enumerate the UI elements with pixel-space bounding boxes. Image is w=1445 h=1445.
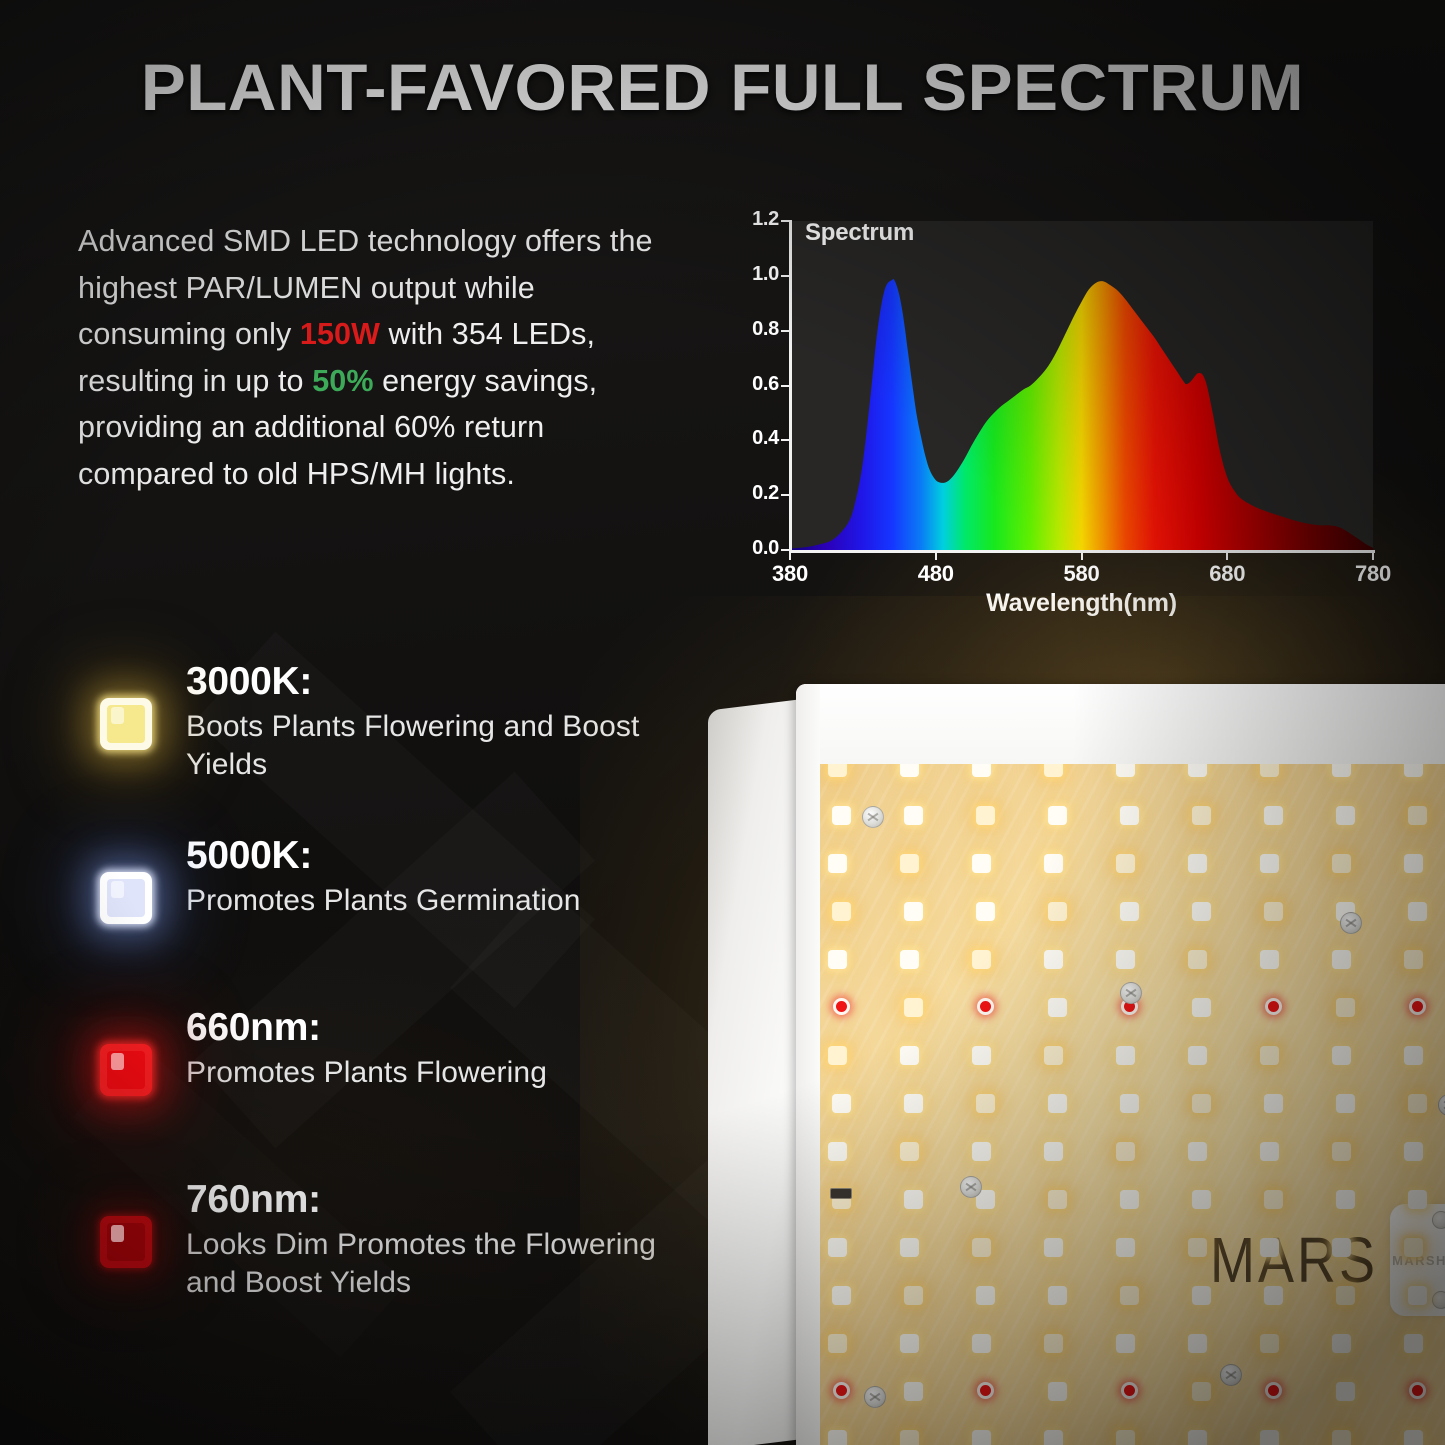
chart-y-tick: [781, 494, 790, 496]
white-led-diode: [972, 950, 991, 969]
white-led-diode: [1188, 764, 1207, 777]
board-screw-icon: [1438, 1094, 1445, 1116]
white-led-diode: [1048, 1094, 1067, 1113]
led-chip-5000k-icon: [78, 850, 174, 946]
white-led-diode: [976, 806, 995, 825]
chart-y-tick: [781, 439, 790, 441]
white-led-diode: [976, 1286, 995, 1305]
red-led-diode: [1265, 998, 1282, 1015]
white-led-diode: [972, 1142, 991, 1161]
chart-x-tick-label: 680: [1192, 561, 1262, 587]
white-led-diode: [828, 1046, 847, 1065]
white-led-diode: [900, 1142, 919, 1161]
white-led-diode: [828, 1238, 847, 1257]
white-led-diode: [1120, 1094, 1139, 1113]
white-led-diode: [1188, 950, 1207, 969]
white-led-diode: [972, 1238, 991, 1257]
white-led-diode: [1336, 1094, 1355, 1113]
white-led-diode: [1404, 950, 1423, 969]
white-led-diode: [900, 950, 919, 969]
white-led-diode: [1332, 854, 1351, 873]
white-led-diode: [1332, 1046, 1351, 1065]
white-led-diode: [1116, 1334, 1135, 1353]
board-screw-icon: [960, 1176, 982, 1198]
red-led-diode: [1265, 1382, 1282, 1399]
red-led-diode: [1409, 998, 1426, 1015]
panel-led-board: MARS HY MARSHYDRO: [820, 764, 1445, 1445]
red-led-diode: [833, 1382, 850, 1399]
smd-component: [830, 1188, 852, 1199]
white-led-diode: [900, 764, 919, 777]
chart-y-tick-label: 0.6: [725, 373, 779, 396]
led-chip-3000k-icon: [78, 676, 174, 772]
white-led-diode: [1336, 998, 1355, 1017]
savings-highlight: 50%: [312, 364, 373, 398]
white-led-diode: [1260, 1238, 1279, 1257]
page-title: PLANT-FAVORED FULL SPECTRUM: [0, 54, 1445, 120]
chart-x-tick: [789, 550, 791, 560]
white-led-diode: [832, 1286, 851, 1305]
white-led-diode: [1048, 1286, 1067, 1305]
white-led-diode: [900, 1046, 919, 1065]
white-led-diode: [1048, 1382, 1067, 1401]
white-led-diode: [904, 1094, 923, 1113]
white-led-diode: [1404, 1430, 1423, 1445]
white-led-diode: [1260, 854, 1279, 873]
white-led-diode: [1192, 806, 1211, 825]
white-led-diode: [1404, 1334, 1423, 1353]
white-led-diode: [1336, 806, 1355, 825]
white-led-diode: [904, 998, 923, 1017]
white-led-diode: [972, 854, 991, 873]
white-led-diode: [1048, 1190, 1067, 1209]
chart-y-tick-label: 0.0: [725, 537, 779, 560]
white-led-diode: [1260, 764, 1279, 777]
white-led-diode: [1116, 854, 1135, 873]
white-led-diode: [1044, 1238, 1063, 1257]
white-led-diode: [1260, 1142, 1279, 1161]
board-screw-icon: [1120, 982, 1142, 1004]
white-led-diode: [1332, 1430, 1351, 1445]
white-led-diode: [1188, 1238, 1207, 1257]
white-led-diode: [1044, 950, 1063, 969]
white-led-diode: [972, 1046, 991, 1065]
white-led-diode: [900, 854, 919, 873]
chart-x-tick-label: 580: [1047, 561, 1117, 587]
white-led-diode: [1332, 1334, 1351, 1353]
white-led-diode: [1044, 1046, 1063, 1065]
chart-y-tick-label: 0.4: [725, 427, 779, 450]
white-led-diode: [976, 1094, 995, 1113]
white-led-diode: [1408, 902, 1427, 921]
chart-y-tick: [781, 330, 790, 332]
white-led-diode: [1188, 854, 1207, 873]
white-led-diode: [828, 1142, 847, 1161]
panel-left-frame: [796, 684, 820, 1445]
white-led-diode: [1264, 1286, 1283, 1305]
white-led-diode: [904, 902, 923, 921]
white-led-diode: [904, 1382, 923, 1401]
chart-y-tick-label: 1.0: [725, 263, 779, 286]
chart-y-tick-label: 0.8: [725, 318, 779, 341]
white-led-diode: [1260, 1334, 1279, 1353]
white-led-diode: [1188, 1430, 1207, 1445]
white-led-diode: [1404, 1142, 1423, 1161]
chart-y-tick: [781, 275, 790, 277]
white-led-diode: [1336, 1190, 1355, 1209]
white-led-diode: [1408, 1094, 1427, 1113]
white-led-diode: [1116, 950, 1135, 969]
white-led-diode: [828, 950, 847, 969]
white-led-diode: [1260, 1046, 1279, 1065]
intro-paragraph: Advanced SMD LED technology offers the h…: [78, 218, 678, 497]
white-led-diode: [1188, 1046, 1207, 1065]
white-led-diode: [1044, 1430, 1063, 1445]
white-led-diode: [832, 806, 851, 825]
white-led-diode: [900, 1334, 919, 1353]
white-led-diode: [1332, 1238, 1351, 1257]
white-led-diode: [1188, 1142, 1207, 1161]
chart-x-tick-label: 380: [755, 561, 825, 587]
white-led-diode: [1192, 1094, 1211, 1113]
white-led-diode: [904, 1286, 923, 1305]
white-led-diode: [1188, 1334, 1207, 1353]
board-screw-icon: [864, 1386, 886, 1408]
white-led-diode: [832, 1094, 851, 1113]
white-led-diode: [1192, 902, 1211, 921]
white-led-diode: [1116, 1238, 1135, 1257]
led-chip-760nm-icon: [78, 1194, 174, 1290]
spectrum-chart: 0.00.20.40.60.81.01.2 380480580680780 Sp…: [733, 197, 1393, 617]
chart-x-tick: [1226, 550, 1228, 560]
white-led-diode: [1120, 806, 1139, 825]
white-led-diode: [832, 902, 851, 921]
chart-y-tick-label: 0.2: [725, 482, 779, 505]
chart-y-tick: [781, 220, 790, 222]
white-led-diode: [972, 1430, 991, 1445]
white-led-diode: [1120, 1286, 1139, 1305]
red-led-diode: [977, 998, 994, 1015]
white-led-diode: [1120, 902, 1139, 921]
white-led-diode: [1044, 1334, 1063, 1353]
chart-x-tick: [935, 550, 937, 560]
white-led-diode: [1264, 806, 1283, 825]
white-led-diode: [1044, 1142, 1063, 1161]
white-led-diode: [1332, 1142, 1351, 1161]
red-led-diode: [1121, 1382, 1138, 1399]
white-led-diode: [1044, 854, 1063, 873]
white-led-diode: [1192, 1286, 1211, 1305]
led-chip-660nm-icon: [78, 1022, 174, 1118]
red-led-diode: [833, 998, 850, 1015]
white-led-diode: [1264, 1190, 1283, 1209]
white-led-diode: [1116, 1046, 1135, 1065]
white-led-diode: [1408, 1190, 1427, 1209]
white-led-diode: [1120, 1190, 1139, 1209]
red-led-diode: [977, 1382, 994, 1399]
white-led-diode: [1404, 764, 1423, 777]
white-led-diode: [900, 1430, 919, 1445]
white-led-diode: [1408, 1286, 1427, 1305]
white-led-diode: [1404, 854, 1423, 873]
spectrum-curve: [790, 221, 1373, 550]
white-led-diode: [1192, 1382, 1211, 1401]
chart-x-tick: [1081, 550, 1083, 560]
white-led-diode: [1404, 1238, 1423, 1257]
white-led-diode: [976, 902, 995, 921]
white-led-diode: [1404, 1046, 1423, 1065]
white-led-diode: [1264, 1094, 1283, 1113]
white-led-diode: [1332, 764, 1351, 777]
white-led-diode: [1048, 998, 1067, 1017]
white-led-diode: [1116, 764, 1135, 777]
white-led-diode: [904, 806, 923, 825]
power-highlight: 150W: [300, 317, 380, 351]
white-led-diode: [828, 764, 847, 777]
white-led-diode: [1264, 902, 1283, 921]
chart-y-tick: [781, 385, 790, 387]
board-screw-icon: [862, 806, 884, 828]
white-led-diode: [828, 1430, 847, 1445]
white-led-diode: [1048, 806, 1067, 825]
panel-top-frame: [796, 684, 1445, 764]
chart-y-tick-label: 1.2: [725, 208, 779, 231]
plate-screw-icon: [1432, 1211, 1445, 1229]
white-led-diode: [1048, 902, 1067, 921]
panel-front-face: MARS HY MARSHYDRO: [796, 684, 1445, 1445]
white-led-diode: [1192, 1190, 1211, 1209]
white-led-diode: [1336, 1382, 1355, 1401]
white-led-diode: [904, 1190, 923, 1209]
white-led-diode: [972, 1334, 991, 1353]
white-led-diode: [1116, 1142, 1135, 1161]
chart-x-tick-label: 480: [901, 561, 971, 587]
chart-x-tick-label: 780: [1338, 561, 1408, 587]
white-led-diode: [1192, 998, 1211, 1017]
chart-legend: Spectrum: [805, 219, 914, 247]
white-led-diode: [1116, 1430, 1135, 1445]
white-led-diode: [972, 764, 991, 777]
white-led-diode: [1336, 1286, 1355, 1305]
white-led-diode: [828, 854, 847, 873]
chart-x-tick: [1372, 550, 1374, 560]
product-feature-graphic: PLANT-FAVORED FULL SPECTRUM Advanced SMD…: [0, 0, 1445, 1445]
red-led-diode: [1409, 1382, 1426, 1399]
board-screw-icon: [1340, 912, 1362, 934]
white-led-diode: [1260, 950, 1279, 969]
white-led-diode: [1332, 950, 1351, 969]
board-screw-icon: [1220, 1364, 1242, 1386]
white-led-diode: [1044, 764, 1063, 777]
plate-screw-icon: [1432, 1291, 1445, 1309]
white-led-diode: [1408, 806, 1427, 825]
white-led-diode: [900, 1238, 919, 1257]
white-led-diode: [828, 1334, 847, 1353]
led-grow-light-panel: MARS HY MARSHYDRO: [700, 676, 1445, 1445]
white-led-diode: [1260, 1430, 1279, 1445]
